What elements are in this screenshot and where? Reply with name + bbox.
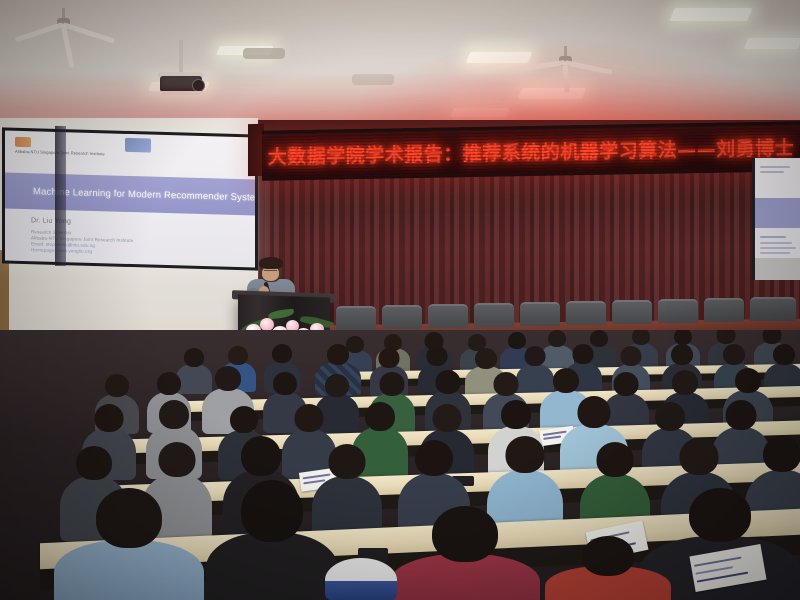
fan-blade — [15, 22, 64, 42]
audience-member-black-coat — [222, 480, 322, 600]
ceiling-fan-right — [520, 46, 610, 82]
lecture-hall-photo: Alibaba-NTU Singapore Joint Research Ins… — [0, 0, 800, 600]
panel-light-6 — [744, 38, 800, 49]
slide-logo-row: Alibaba-NTU Singapore Joint Research Ins… — [13, 135, 247, 164]
audience-member-white-cap — [318, 558, 404, 600]
audience-member-red — [560, 536, 656, 600]
secondary-slide-title-band — [755, 198, 800, 228]
audience-member-denim-shirt — [74, 488, 184, 600]
audience-member-maroon — [410, 506, 520, 600]
projection-screen: Alibaba-NTU Singapore Joint Research Ins… — [2, 127, 258, 270]
ceiling-speaker — [243, 48, 285, 59]
slide-title: Machine Learning for Modern Recommender … — [33, 186, 258, 204]
secondary-projection-screen — [752, 158, 800, 280]
glasses-icon — [264, 270, 277, 274]
slide-title-band: Machine Learning for Modern Recommender … — [5, 173, 255, 216]
panel-light-4 — [518, 88, 586, 99]
fan-blade — [519, 60, 565, 71]
fan-blade — [61, 24, 75, 68]
alibaba-logo — [15, 137, 31, 147]
empty-seat — [612, 300, 652, 324]
ntu-logo — [125, 138, 151, 153]
empty-seat — [428, 304, 468, 328]
ceiling-speaker — [352, 74, 394, 85]
led-banner: 大数据学院学术报告：推荐系统的机器学习算法——刘勇博士 — [262, 121, 800, 180]
audience-area — [0, 330, 800, 600]
panel-light-7 — [450, 108, 510, 117]
empty-seat — [566, 301, 606, 325]
empty-seat — [520, 302, 560, 326]
panel-light-5 — [669, 8, 752, 21]
ceiling-fan-left — [18, 8, 108, 48]
pillar-edge — [55, 126, 66, 266]
fan-blade — [564, 60, 612, 75]
empty-seat — [704, 298, 744, 322]
ceiling — [0, 0, 800, 132]
empty-seat — [658, 299, 698, 323]
audience-member — [318, 444, 376, 538]
speaker-hair — [259, 257, 283, 269]
empty-seat — [336, 306, 376, 330]
fan-blade — [563, 62, 570, 92]
fan-blade — [62, 22, 115, 43]
empty-seat — [750, 297, 796, 321]
led-banner-text: 大数据学院学术报告：推荐系统的机器学习算法——刘勇博士 — [268, 133, 795, 169]
empty-seat — [474, 303, 514, 327]
empty-seat — [382, 305, 422, 329]
projector — [158, 40, 204, 98]
